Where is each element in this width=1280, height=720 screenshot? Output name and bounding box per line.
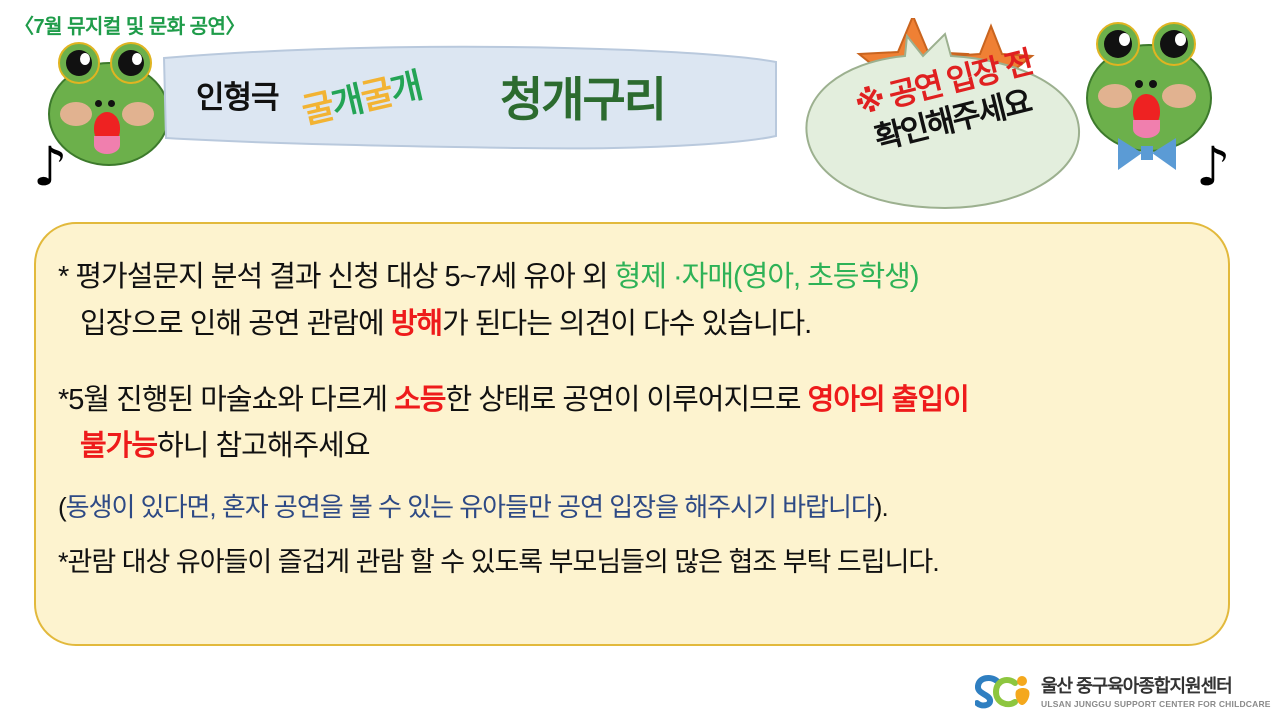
frog-cheek-right xyxy=(122,102,154,126)
notice-callout-bubble: ※ 공연 입장 전 확인해주세요 xyxy=(795,18,1095,214)
banner-genre-label: 인형극 xyxy=(196,72,279,117)
footer-text-block: 울산 중구육아종합지원센터 ULSAN JUNGGU SUPPORT CENTE… xyxy=(1041,672,1271,709)
footer-branding: 울산 중구육아종합지원센터 ULSAN JUNGGU SUPPORT CENTE… xyxy=(975,672,1275,716)
music-note-right-icon: ♪ xyxy=(1196,140,1230,194)
banner-main-title: 청개구리 xyxy=(500,61,665,130)
p2-line2-b: 하니 참고해주세요 xyxy=(157,430,370,462)
p2-line1-highlight-2: 영아의 출입이 xyxy=(808,384,969,416)
frog-cheek-left xyxy=(1098,84,1132,108)
frog-eye-gloss-left xyxy=(80,53,90,65)
frog-eye-gloss-left xyxy=(1119,33,1130,46)
p1-line2-a: 입장으로 인해 공연 관람에 xyxy=(80,308,391,340)
notice-paragraph-2: *5월 진행된 마술쇼와 다르게 소등한 상태로 공연이 이루어지므로 영아의 … xyxy=(58,378,1212,470)
p3-open-paren: ( xyxy=(58,492,66,522)
p2-line1-highlight: 소등 xyxy=(394,384,445,416)
p1-line1-highlight: 형제 ·자매(영아, 초등학생) xyxy=(615,261,919,293)
p1-line1-a: * 평가설문지 분석 결과 신청 대상 5~7세 유아 외 xyxy=(58,261,615,293)
frog-mouth-lower xyxy=(94,136,120,154)
bowtie-icon xyxy=(1118,134,1176,174)
frog-cheek-right xyxy=(1162,84,1196,108)
sc-childcare-logo-icon xyxy=(975,674,1035,710)
show-title-banner: 인형극 굴개굴개 청개구리 xyxy=(160,44,780,152)
p2-line2-highlight: 불가능 xyxy=(80,430,157,462)
frog-nostril-right xyxy=(1149,80,1157,88)
p2-line1-b: 한 상태로 공연이 이루어지므로 xyxy=(446,384,808,416)
p1-line2-b: 가 된다는 의견이 다수 있습니다. xyxy=(442,308,811,340)
frog-nostril-left xyxy=(95,100,102,107)
notice-paragraph-4: *관람 대상 유아들이 즐겁게 관람 할 수 있도록 부모님들의 많은 협조 부… xyxy=(58,544,1212,582)
p1-line2-highlight: 방해 xyxy=(391,308,442,340)
p1-line2: 입장으로 인해 공연 관람에 방해가 된다는 의견이 다수 있습니다. xyxy=(58,301,1212,348)
footer-org-name-en: ULSAN JUNGGU SUPPORT CENTER FOR CHILDCAR… xyxy=(1041,699,1271,709)
footer-org-name-kr: 울산 중구육아종합지원센터 xyxy=(1041,672,1271,698)
p2-line1-a: *5월 진행된 마술쇼와 다르게 xyxy=(58,384,394,416)
page-title: 〈7월 뮤지컬 및 문화 공연〉 xyxy=(14,10,245,39)
music-note-left-icon: ♪ xyxy=(33,140,67,194)
p2-line2: 불가능하니 참고해주세요 xyxy=(58,424,1212,470)
frog-nostril-left xyxy=(1135,80,1143,88)
notice-paragraph-3: (동생이 있다면, 혼자 공연을 볼 수 있는 유아들만 공연 입장을 해주시기… xyxy=(58,489,1212,525)
notice-paragraph-1: * 평가설문지 분석 결과 신청 대상 5~7세 유아 외 형제 ·자매(영아,… xyxy=(58,254,1212,348)
notice-content-box: * 평가설문지 분석 결과 신청 대상 5~7세 유아 외 형제 ·자매(영아,… xyxy=(34,222,1230,646)
p3-navy-text: 동생이 있다면, 혼자 공연을 볼 수 있는 유아들만 공연 입장을 해주시기 … xyxy=(66,492,874,522)
frog-eye-gloss-right xyxy=(132,53,142,65)
frog-cheek-left xyxy=(60,102,92,126)
frog-eye-gloss-right xyxy=(1175,33,1186,46)
slide-canvas: 〈7월 뮤지컬 및 문화 공연〉 ♪ 인형극 굴개굴개 청개구리 xyxy=(0,0,1280,720)
p3-close-paren: ). xyxy=(874,492,888,522)
frog-nostril-right xyxy=(108,100,115,107)
